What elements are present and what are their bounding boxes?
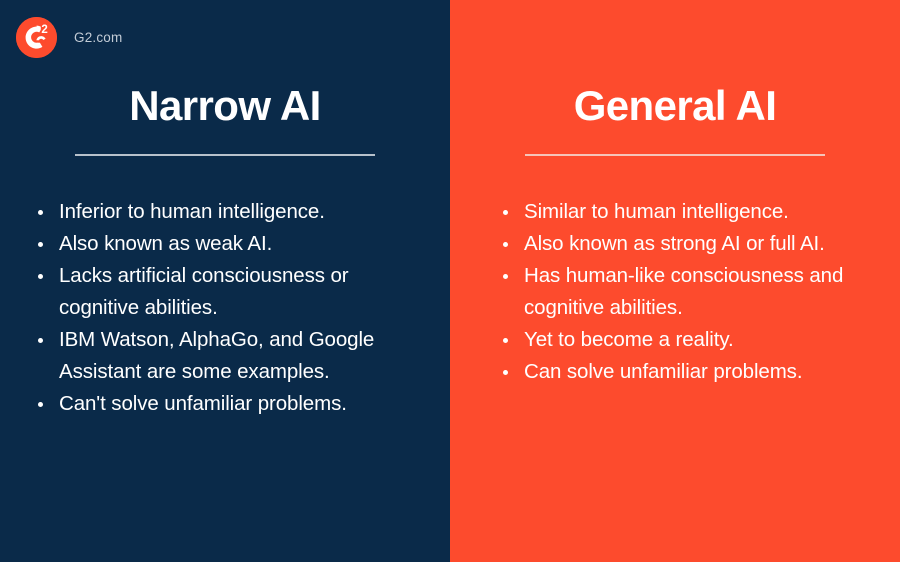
- general-ai-bullet-list: Similar to human intelligence. Also know…: [497, 196, 882, 388]
- narrow-ai-panel: 2 G2.com Narrow AI Inferior to human int…: [0, 0, 450, 562]
- list-item: IBM Watson, AlphaGo, and Google Assistan…: [32, 324, 417, 388]
- heading-divider-left: [75, 154, 375, 156]
- list-item: Can't solve unfamiliar problems.: [32, 388, 417, 420]
- list-item: Also known as strong AI or full AI.: [497, 228, 882, 260]
- narrow-ai-heading: Narrow AI: [0, 84, 450, 128]
- general-ai-panel: General AI Similar to human intelligence…: [450, 0, 900, 562]
- list-item: Similar to human intelligence.: [497, 196, 882, 228]
- comparison-slide: 2 G2.com Narrow AI Inferior to human int…: [0, 0, 900, 562]
- list-item: Inferior to human intelligence.: [32, 196, 417, 228]
- brand-name: G2.com: [74, 30, 122, 45]
- list-item: Yet to become a reality.: [497, 324, 882, 356]
- list-item: Lacks artificial consciousness or cognit…: [32, 260, 417, 324]
- list-item: Can solve unfamiliar problems.: [497, 356, 882, 388]
- svg-text:2: 2: [41, 24, 47, 36]
- general-ai-heading: General AI: [450, 84, 900, 128]
- heading-divider-right: [525, 154, 825, 156]
- g2-logo-icon: 2: [16, 17, 57, 58]
- narrow-ai-bullet-list: Inferior to human intelligence. Also kno…: [32, 196, 417, 420]
- list-item: Has human-like consciousness and cogniti…: [497, 260, 882, 324]
- list-item: Also known as weak AI.: [32, 228, 417, 260]
- brand: 2 G2.com: [16, 17, 122, 58]
